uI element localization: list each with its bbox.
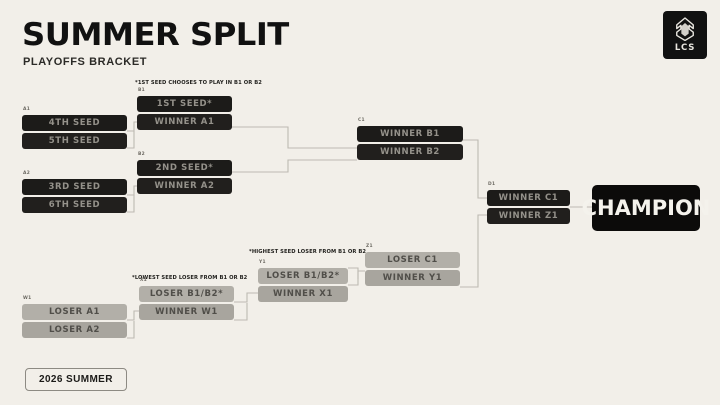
- slot-y1-1[interactable]: LOSER B1/B2*: [258, 268, 348, 284]
- match-code-c1: C1: [358, 118, 365, 123]
- slot-a1-1[interactable]: 4TH SEED: [22, 115, 127, 131]
- note-highest-seed: *HIGHEST SEED LOSER FROM B1 OR B2: [249, 249, 366, 255]
- page-subtitle: PLAYOFFS BRACKET: [23, 56, 147, 68]
- match-code-a1: A1: [23, 107, 30, 112]
- slot-a1-2[interactable]: 5TH SEED: [22, 133, 127, 149]
- lcs-logo: LCS: [663, 11, 707, 59]
- slot-w1-2[interactable]: LOSER A2: [22, 322, 127, 338]
- match-code-z1: Z1: [366, 244, 373, 249]
- note-first-seed: *1ST SEED CHOOSES TO PLAY IN B1 OR B2: [135, 80, 262, 86]
- slot-x1-2[interactable]: WINNER W1: [139, 304, 234, 320]
- bracket-stage: SUMMER SPLIT PLAYOFFS BRACKET LCS: [0, 0, 720, 405]
- slot-d1-2[interactable]: WINNER Z1: [487, 208, 570, 224]
- match-a1: A1 4TH SEED 5TH SEED: [22, 115, 127, 149]
- slot-b1-1[interactable]: 1ST SEED*: [137, 96, 232, 112]
- match-code-y1: Y1: [259, 260, 266, 265]
- match-code-a2: A2: [23, 171, 30, 176]
- match-code-d1: D1: [488, 182, 495, 187]
- slot-z1-1[interactable]: LOSER C1: [365, 252, 460, 268]
- slot-b2-2[interactable]: WINNER A2: [137, 178, 232, 194]
- season-tag[interactable]: 2026 SUMMER: [25, 368, 127, 391]
- note-lowest-seed: *LOWEST SEED LOSER FROM B1 OR B2: [132, 275, 247, 281]
- slot-z1-2[interactable]: WINNER Y1: [365, 270, 460, 286]
- lcs-flame-icon: [674, 17, 696, 41]
- match-a2: A2 3RD SEED 6TH SEED: [22, 179, 127, 213]
- match-code-w1: W1: [23, 296, 32, 301]
- match-w1: W1 LOSER A1 LOSER A2: [22, 304, 127, 338]
- match-z1: Z1 LOSER C1 WINNER Y1: [365, 252, 460, 286]
- slot-a2-2[interactable]: 6TH SEED: [22, 197, 127, 213]
- match-code-b2: B2: [138, 152, 145, 157]
- slot-w1-1[interactable]: LOSER A1: [22, 304, 127, 320]
- slot-c1-2[interactable]: WINNER B2: [357, 144, 463, 160]
- slot-b1-2[interactable]: WINNER A1: [137, 114, 232, 130]
- slot-y1-2[interactable]: WINNER X1: [258, 286, 348, 302]
- match-b1: B1 1ST SEED* WINNER A1: [137, 96, 232, 130]
- match-x1: X1 LOSER B1/B2* WINNER W1: [139, 286, 234, 320]
- match-b2: B2 2ND SEED* WINNER A2: [137, 160, 232, 194]
- match-c1: C1 WINNER B1 WINNER B2: [357, 126, 463, 160]
- match-d1: D1 WINNER C1 WINNER Z1: [487, 190, 570, 224]
- slot-x1-1[interactable]: LOSER B1/B2*: [139, 286, 234, 302]
- lcs-logo-text: LCS: [675, 43, 695, 53]
- slot-c1-1[interactable]: WINNER B1: [357, 126, 463, 142]
- page-title: SUMMER SPLIT: [22, 17, 289, 53]
- slot-a2-1[interactable]: 3RD SEED: [22, 179, 127, 195]
- slot-d1-1[interactable]: WINNER C1: [487, 190, 570, 206]
- champion-box: CHAMPION: [592, 185, 700, 231]
- match-code-x1: X1: [140, 278, 147, 283]
- match-code-b1: B1: [138, 88, 145, 93]
- match-y1: Y1 LOSER B1/B2* WINNER X1: [258, 268, 348, 302]
- slot-b2-1[interactable]: 2ND SEED*: [137, 160, 232, 176]
